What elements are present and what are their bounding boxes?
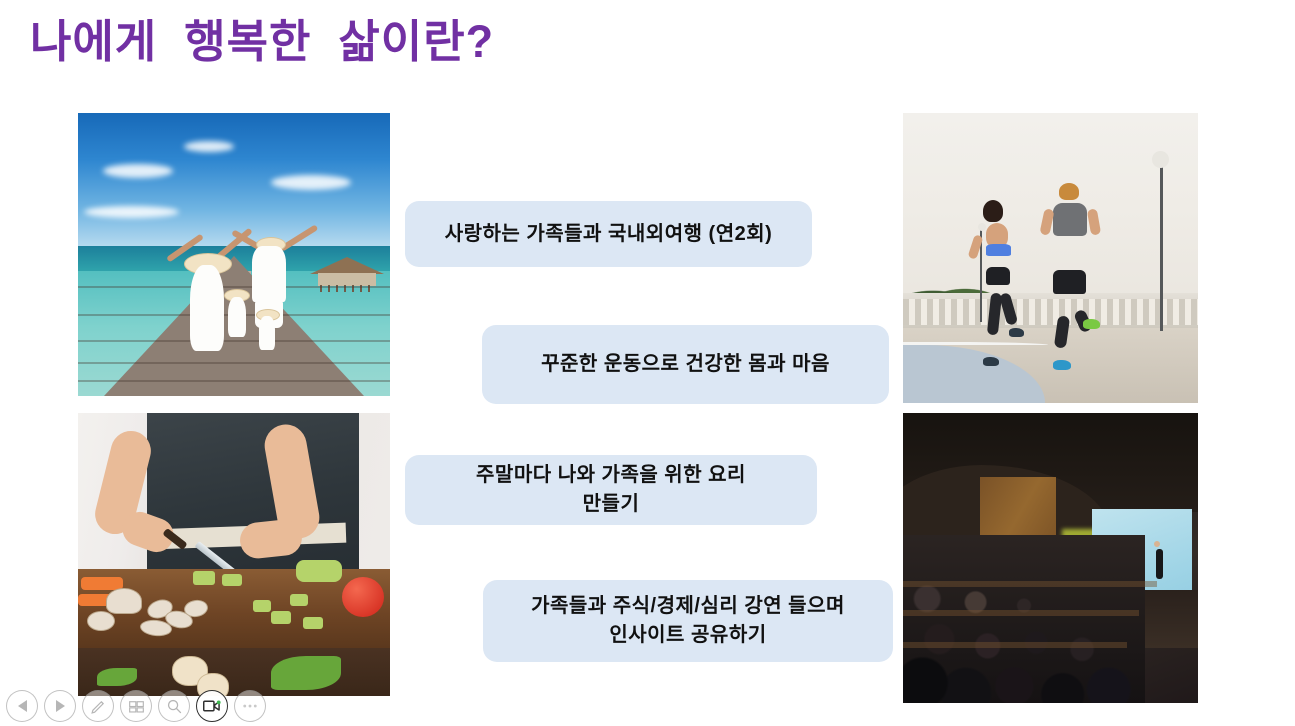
presentation-toolbar <box>0 686 266 726</box>
photo-joggers-exercise <box>903 113 1198 403</box>
lane-line <box>903 342 1048 345</box>
seat-row <box>903 642 1127 648</box>
magnifier-icon <box>166 698 183 715</box>
herbs <box>97 668 137 686</box>
tomato <box>342 577 384 617</box>
audience <box>903 535 1145 703</box>
photo-family-travel-content <box>78 113 390 396</box>
celery-piece <box>290 594 308 606</box>
mushroom <box>106 588 142 614</box>
next-arrow-icon <box>56 700 65 712</box>
pen-icon <box>90 698 107 715</box>
next-slide-button[interactable] <box>44 690 76 722</box>
photo-cooking <box>78 413 390 696</box>
callout-exercise: 꾸준한 운동으로 건강한 몸과 마음 <box>482 325 889 404</box>
video-camera-icon <box>203 699 222 713</box>
more-options-icon <box>241 703 259 709</box>
more-options-button[interactable] <box>234 690 266 722</box>
photo-joggers-content <box>903 113 1198 403</box>
pen-tool-button[interactable] <box>82 690 114 722</box>
all-slides-button[interactable] <box>120 690 152 722</box>
previous-arrow-icon <box>18 700 27 712</box>
speaker-person <box>1156 549 1163 579</box>
runner-man-hair <box>1059 183 1079 200</box>
celery-piece <box>193 571 215 585</box>
presentation-slide: 나에게 행복한 삶이란? <box>0 0 1295 726</box>
runner-woman-hair <box>983 200 1003 222</box>
seat-row <box>903 581 1157 587</box>
callout-lecture: 가족들과 주식/경제/심리 강연 들으며 인사이트 공유하기 <box>483 580 893 662</box>
railing-posts <box>903 299 1198 325</box>
zoom-button[interactable] <box>158 690 190 722</box>
speaker-head <box>1154 541 1160 547</box>
page-title: 나에게 행복한 삶이란? <box>30 14 494 70</box>
cloud-icon <box>103 164 173 178</box>
slides-grid-icon <box>128 699 145 714</box>
celery-piece <box>271 611 291 624</box>
photo-family-travel <box>78 113 390 396</box>
camera-button[interactable] <box>196 690 228 722</box>
seat-row <box>903 610 1139 616</box>
previous-slide-button[interactable] <box>6 690 38 722</box>
photo-cooking-content <box>78 413 390 696</box>
celery-piece <box>303 617 323 629</box>
callout-travel: 사랑하는 가족들과 국내외여행 (연2회) <box>405 201 812 267</box>
celery-stalk <box>296 560 342 582</box>
celery-piece <box>222 574 242 586</box>
photo-lecture-hall <box>903 413 1198 703</box>
street-lamp-head <box>1152 151 1169 168</box>
callout-cooking: 주말마다 나와 가족을 위한 요리 만들기 <box>405 455 817 525</box>
photo-lecture-content <box>903 413 1198 703</box>
street-lamp-pole <box>1160 157 1163 331</box>
celery-piece <box>253 600 271 612</box>
